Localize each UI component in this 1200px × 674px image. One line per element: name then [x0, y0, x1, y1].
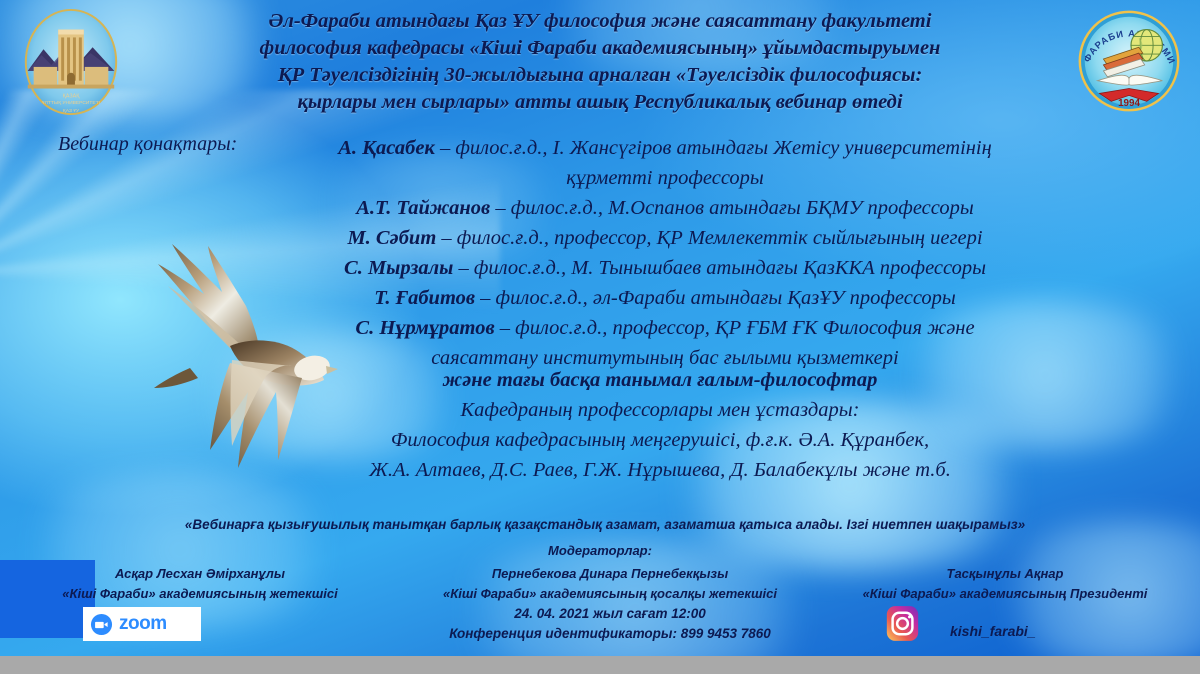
logo-left-text-3: ҚАЗ ҰУ [63, 108, 80, 114]
guest-row: С. Мырзалы – филос.ғ.д., М. Тынышбаев ат… [160, 253, 1170, 283]
moderator-name: Пернебекова Динара Пернебекқызы [400, 564, 820, 584]
instagram-icon[interactable] [886, 605, 919, 642]
title-line-1: Әл-Фараби атындағы Қаз ҰУ философия және… [150, 8, 1050, 35]
moderators-label: Модераторлар: [0, 543, 1200, 558]
moderator-name: Асқар Лесхан Әмірханұлы [20, 564, 380, 584]
conference-id: Конференция идентификаторы: 899 9453 786… [400, 624, 820, 644]
dept-line-2: Философия кафедрасының меңгерушісі, ф.ғ.… [150, 425, 1170, 455]
moderator-role: «Кіші Фараби» академиясының қосалқы жете… [400, 584, 820, 604]
kaznu-emblem-logo: ҚАЗАҚ ҰЛТТЫҚ УНИВЕРСИТЕТІ ҚАЗ ҰУ [12, 6, 130, 118]
guest-row: құрметті профессоры [160, 163, 1170, 193]
department-block: және тағы басқа танымал ғалым-философтар… [150, 365, 1170, 485]
instagram-handle[interactable]: kishi_farabi_ [950, 623, 1036, 639]
logo-left-text-2: ҰЛТТЫҚ УНИВЕРСИТЕТІ [42, 100, 100, 106]
zoom-label: zoom [119, 613, 167, 635]
guest-row: А. Қасабек – филос.ғ.д., І. Жансүгіров а… [160, 133, 1170, 163]
logo-left-text-1: ҚАЗАҚ [63, 93, 81, 99]
guest-desc: – филос.ғ.д., І. Жансүгіров атындағы Жет… [435, 137, 992, 159]
guest-name: Т. Ғабитов [374, 287, 475, 309]
dept-line-1: Кафедраның профессорлары мен ұстаздары: [150, 395, 1170, 425]
moderator-column: Тасқынұлы Ақнар «Кіші Фараби» академиясы… [820, 564, 1190, 604]
title-line-2: философия кафедрасы «Кіші Фараби академи… [150, 35, 1050, 62]
moderator-name: Тасқынұлы Ақнар [820, 564, 1190, 584]
page-title: Әл-Фараби атындағы Қаз ҰУ философия және… [150, 8, 1050, 116]
moderator-role: «Кіші Фараби» академиясының жетекшісі [20, 584, 380, 604]
title-line-3: ҚР Тәуелсіздігінің 30-жылдығына арналған… [150, 62, 1050, 89]
guest-name: С. Мырзалы [344, 257, 453, 279]
guest-desc: – филос.ғ.д., М. Тынышбаев атындағы ҚазК… [453, 257, 986, 279]
guest-row: А.Т. Тайжанов – филос.ғ.д., М.Оспанов ат… [160, 193, 1170, 223]
zoom-camera-icon [90, 613, 113, 636]
guest-desc: – филос.ғ.д., әл-Фараби атындағы ҚазҰУ п… [475, 287, 956, 309]
guest-desc: – филос.ғ.д., М.Оспанов атындағы БҚМУ пр… [490, 197, 974, 219]
guest-name: А.Т. Тайжанов [356, 197, 490, 219]
guest-desc: – филос.ғ.д., профессор, ҚР ҒБМ ҒК Филос… [495, 317, 975, 339]
title-line-4: қырлары мен сырлары» атты ашық Республик… [150, 89, 1050, 116]
invitation-text: «Вебинарға қызығушылық танытқан барлық қ… [50, 517, 1160, 532]
zoom-logo[interactable]: zoom [83, 607, 201, 641]
event-datetime-block: 24. 04. 2021 жыл сағат 12:00 Конференция… [400, 604, 820, 644]
kishi-farabi-academy-logo: КІШІ ФАРАБИ АКАДЕМИЯСЫ 1994 [1070, 2, 1188, 120]
bottom-gray-bar [0, 656, 1200, 674]
dept-line-3: Ж.А. Алтаев, Д.С. Раев, Г.Ж. Нұрышева, Д… [150, 455, 1170, 485]
guest-desc: құрметті профессоры [566, 167, 764, 189]
logo-right-year: 1994 [1118, 98, 1140, 109]
guest-row: С. Нұрмұратов – филос.ғ.д., профессор, Қ… [160, 313, 1170, 343]
webinar-poster: ҚАЗАҚ ҰЛТТЫҚ УНИВЕРСИТЕТІ ҚАЗ ҰУ КІШІ ФА… [0, 0, 1200, 674]
guest-desc: – филос.ғ.д., профессор, ҚР Мемлекеттік … [436, 227, 982, 249]
moderator-column: Асқар Лесхан Әмірханұлы «Кіші Фараби» ак… [20, 564, 380, 604]
guest-name: А. Қасабек [338, 137, 435, 159]
guest-name: С. Нұрмұратов [355, 317, 494, 339]
moderator-role: «Кіші Фараби» академиясының Президенті [820, 584, 1190, 604]
event-datetime: 24. 04. 2021 жыл сағат 12:00 [400, 604, 820, 624]
also-line: және тағы басқа танымал ғалым-философтар [150, 365, 1170, 395]
guest-name: М. Сәбит [347, 227, 436, 249]
guest-row: Т. Ғабитов – филос.ғ.д., әл-Фараби атынд… [160, 283, 1170, 313]
guest-list: А. Қасабек – филос.ғ.д., І. Жансүгіров а… [160, 133, 1170, 373]
moderator-column: Пернебекова Динара Пернебекқызы «Кіші Фа… [400, 564, 820, 604]
guest-row: М. Сәбит – филос.ғ.д., профессор, ҚР Мем… [160, 223, 1170, 253]
